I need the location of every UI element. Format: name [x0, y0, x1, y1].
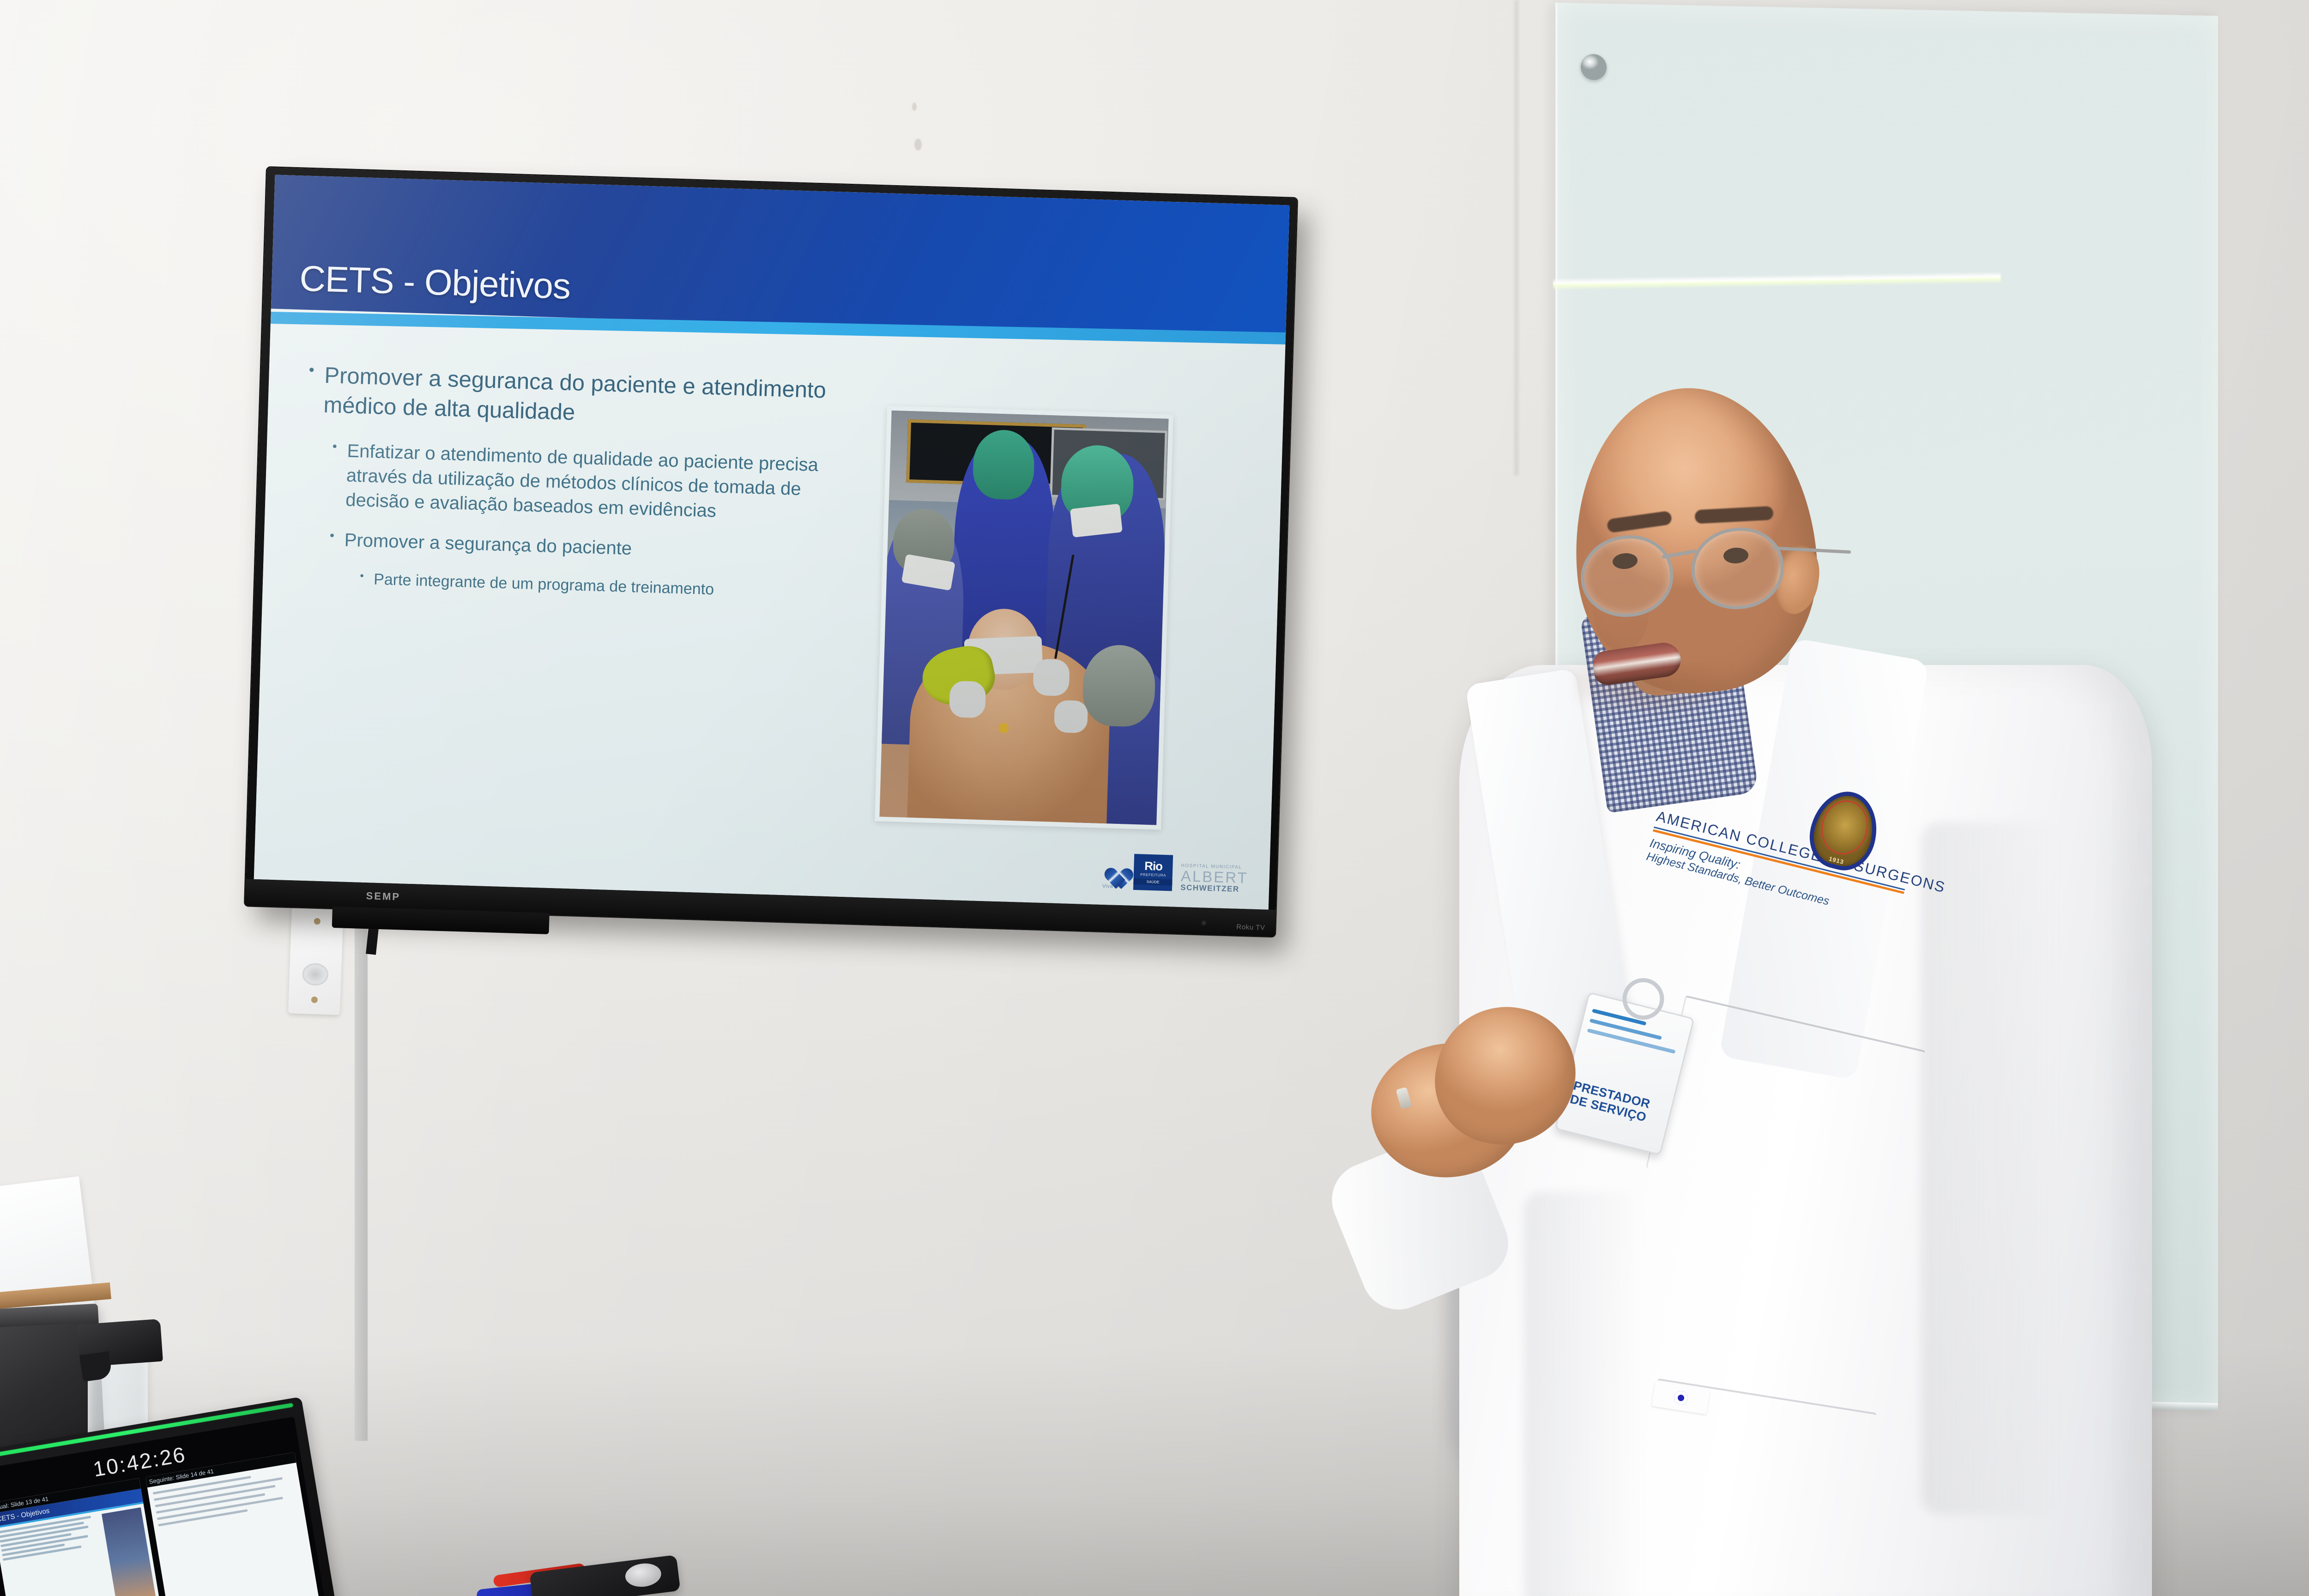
badge-role-label: PRESTADOR DE SERVIÇO: [1569, 1078, 1652, 1124]
photo-vignette: [879, 411, 1168, 825]
slide-bullet-level2: Enfatizar o atendimento de qualidade ao …: [328, 439, 844, 527]
slide-logo-row: Viva Rio Rio PREFEITURA SAÚDE HOSPITAL M…: [1100, 853, 1249, 894]
slide-photo-frame: [875, 405, 1173, 829]
logo-rio-sub: PREFEITURA: [1140, 872, 1166, 877]
tv-power-led-icon: [1202, 920, 1206, 925]
badge-stripe: [1590, 1018, 1662, 1040]
logo-rio-wordmark: Rio: [1144, 860, 1163, 872]
next-slide-pane[interactable]: Seguinte: Slide 14 de 41: [145, 1452, 323, 1596]
wall-corner-seam: [1515, 0, 1519, 476]
eyeglass-bridge: [1662, 549, 1697, 559]
presentation-slide: CETS - Objetivos Promover a seguranca do…: [254, 175, 1290, 910]
slide-body: Promover a seguranca do paciente e atend…: [254, 308, 1286, 909]
slide-photo-simulation-team: [879, 411, 1168, 825]
coat-fold: [1524, 1191, 1644, 1596]
slide-bullet-level1: Promover a seguranca do paciente e atend…: [304, 361, 846, 435]
heart-icon: [1100, 859, 1126, 883]
slide-title: CETS - Objetivos: [271, 256, 571, 317]
slide-bullet-level3: Parte integrante de um programa de trein…: [357, 568, 840, 604]
wall-speck: [912, 103, 917, 111]
tv-platform-label: Roku TV: [1236, 923, 1265, 932]
presenter: 1913 AMERICAN COLLEGE OF SURGEONS Inspir…: [1376, 406, 2184, 1596]
slide-bullet-level2: Promover a segurança do paciente: [326, 527, 840, 567]
slide-bullet-list: Promover a seguranca do paciente e atend…: [279, 349, 846, 896]
tv-brand-logo: SEMP: [366, 890, 400, 903]
eyeglass-temple-arm: [1772, 546, 1851, 554]
remote-dpad-icon[interactable]: [624, 1561, 663, 1589]
eyeglasses-icon: [1567, 513, 1841, 619]
eyeglass-lens-left: [1578, 532, 1676, 620]
circle-logo-icon: [1673, 1390, 1689, 1406]
tv-screen[interactable]: CETS - Objetivos Promover a seguranca do…: [254, 175, 1290, 910]
outlet-screw: [311, 997, 318, 1003]
eyeglass-lens-right: [1689, 525, 1787, 612]
outlet-socket-icon: [302, 963, 329, 986]
logo-hospital-albert-schweitzer: HOSPITAL MUNICIPAL ALBERT SCHWEITZER: [1180, 864, 1249, 893]
logo-albert-surname: SCHWEITZER: [1180, 883, 1248, 893]
logo-vivario: Viva Rio: [1100, 859, 1126, 890]
whiteboard-standoff-top: [1581, 54, 1607, 80]
logo-prefeitura-rio: Rio PREFEITURA SAÚDE: [1133, 854, 1173, 891]
logo-rio-dept: SAÚDE: [1133, 878, 1172, 886]
wall-speck: [914, 139, 922, 151]
wall-mounted-television[interactable]: CETS - Objetivos Promover a seguranca do…: [245, 167, 1297, 937]
scene-root: CETS - Objetivos Promover a seguranca do…: [0, 0, 2309, 1596]
coat-fold: [1921, 822, 2060, 1515]
outlet-screw: [314, 918, 320, 925]
whiteboard-light-reflection: [1553, 272, 2001, 290]
chin-shadow: [1575, 665, 1727, 725]
